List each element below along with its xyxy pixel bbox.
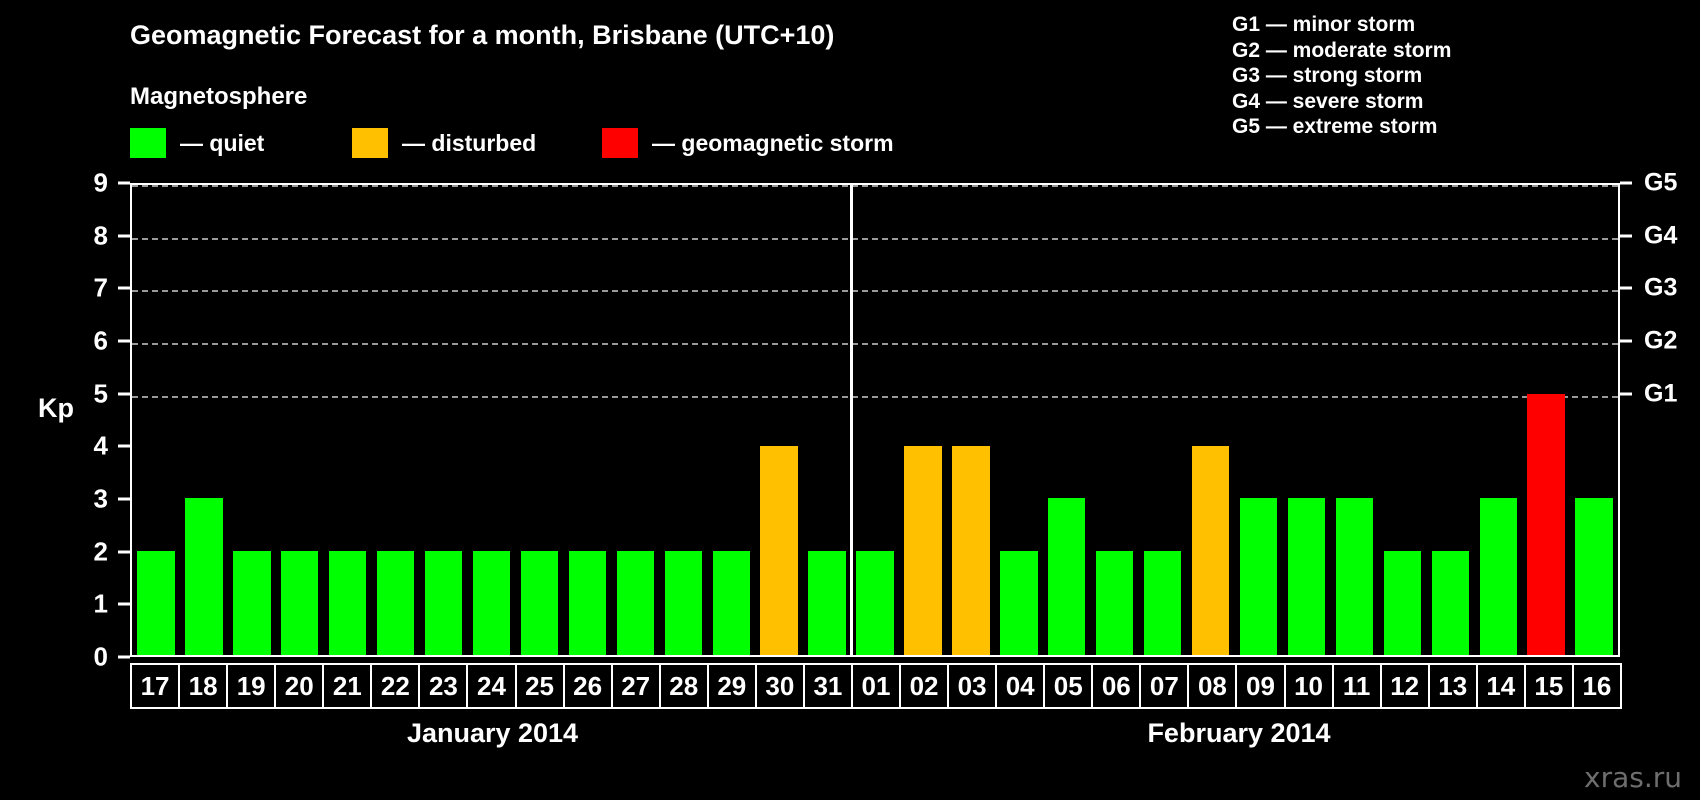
day-label-21: 21 bbox=[322, 663, 372, 709]
g-scale-legend: G1 — minor stormG2 — moderate stormG3 — … bbox=[1232, 12, 1451, 140]
day-label-02: 02 bbox=[899, 663, 949, 709]
g-axis-label-G4: G4 bbox=[1644, 221, 1677, 250]
day-label-27: 27 bbox=[611, 663, 661, 709]
day-label-05: 05 bbox=[1043, 663, 1093, 709]
legend-swatch-disturbed bbox=[352, 128, 388, 158]
day-label-17: 17 bbox=[130, 663, 180, 709]
g-axis-label-G5: G5 bbox=[1644, 169, 1677, 198]
bar-day-23 bbox=[425, 551, 462, 655]
y-tick-label-4: 4 bbox=[94, 431, 108, 462]
legend-swatch-quiet bbox=[130, 128, 166, 158]
g-legend-line-3: G3 — strong storm bbox=[1232, 63, 1451, 89]
day-label-22: 22 bbox=[370, 663, 420, 709]
g-axis-tick-G3 bbox=[1620, 287, 1632, 290]
day-label-01: 01 bbox=[851, 663, 901, 709]
day-label-04: 04 bbox=[995, 663, 1045, 709]
day-label-11: 11 bbox=[1332, 663, 1382, 709]
y-tick-label-3: 3 bbox=[94, 484, 108, 515]
y-tick-mark-0 bbox=[118, 656, 130, 659]
plot-area bbox=[130, 183, 1620, 657]
day-label-18: 18 bbox=[178, 663, 228, 709]
g-axis-tick-G1 bbox=[1620, 392, 1632, 395]
day-label-14: 14 bbox=[1476, 663, 1526, 709]
bar-cell bbox=[899, 185, 947, 655]
y-axis-title: Kp bbox=[38, 393, 74, 424]
g-axis-label-G3: G3 bbox=[1644, 274, 1677, 303]
y-tick-label-0: 0 bbox=[94, 642, 108, 673]
bar-day-28 bbox=[665, 551, 702, 655]
y-tick-mark-5 bbox=[118, 392, 130, 395]
bar-cell bbox=[276, 185, 324, 655]
bar-day-01 bbox=[856, 551, 893, 655]
bar-day-26 bbox=[569, 551, 606, 655]
bar-cell bbox=[1187, 185, 1235, 655]
day-label-08: 08 bbox=[1187, 663, 1237, 709]
bar-series bbox=[132, 185, 1618, 655]
day-axis-labels: 1718192021222324252627282930310102030405… bbox=[130, 663, 1620, 709]
bar-day-29 bbox=[713, 551, 750, 655]
y-tick-label-8: 8 bbox=[94, 220, 108, 251]
bar-cell bbox=[372, 185, 420, 655]
day-label-30: 30 bbox=[755, 663, 805, 709]
y-tick-mark-7 bbox=[118, 287, 130, 290]
bar-day-13 bbox=[1432, 551, 1469, 655]
bar-cell bbox=[180, 185, 228, 655]
g-legend-line-4: G4 — severe storm bbox=[1232, 89, 1451, 115]
bar-day-02 bbox=[904, 446, 941, 655]
bar-day-31 bbox=[808, 551, 845, 655]
bar-cell bbox=[947, 185, 995, 655]
day-label-23: 23 bbox=[418, 663, 468, 709]
g-legend-line-5: G5 — extreme storm bbox=[1232, 114, 1451, 140]
y-tick-mark-9 bbox=[118, 182, 130, 185]
bar-cell bbox=[1043, 185, 1091, 655]
bar-day-27 bbox=[617, 551, 654, 655]
day-label-31: 31 bbox=[803, 663, 853, 709]
day-label-29: 29 bbox=[707, 663, 757, 709]
bar-cell bbox=[132, 185, 180, 655]
bar-day-10 bbox=[1288, 498, 1325, 655]
bar-day-19 bbox=[233, 551, 270, 655]
y-tick-label-7: 7 bbox=[94, 273, 108, 304]
bar-day-09 bbox=[1240, 498, 1277, 655]
legend-label-geomagnetic-storm: — geomagnetic storm bbox=[652, 130, 894, 157]
bar-cell bbox=[1522, 185, 1570, 655]
g-axis-tick-G5 bbox=[1620, 182, 1632, 185]
bar-cell bbox=[707, 185, 755, 655]
legend-label-quiet: — quiet bbox=[180, 130, 264, 157]
y-tick-label-1: 1 bbox=[94, 589, 108, 620]
day-label-26: 26 bbox=[563, 663, 613, 709]
day-label-13: 13 bbox=[1428, 663, 1478, 709]
bar-cell bbox=[1091, 185, 1139, 655]
y-tick-label-2: 2 bbox=[94, 536, 108, 567]
g-axis-label-G1: G1 bbox=[1644, 379, 1677, 408]
month-label-february: February 2014 bbox=[858, 718, 1620, 749]
y-tick-mark-3 bbox=[118, 498, 130, 501]
bar-cell bbox=[1283, 185, 1331, 655]
bar-day-14 bbox=[1480, 498, 1517, 655]
bar-cell bbox=[228, 185, 276, 655]
month-label-january: January 2014 bbox=[130, 718, 855, 749]
day-label-06: 06 bbox=[1091, 663, 1141, 709]
bar-cell bbox=[324, 185, 372, 655]
g-scale-axis: G1G2G3G4G5 bbox=[1620, 183, 1700, 657]
plot-inner bbox=[132, 185, 1618, 655]
y-tick-mark-1 bbox=[118, 603, 130, 606]
bar-day-04 bbox=[1000, 551, 1037, 655]
legend-entry-disturbed: — disturbed bbox=[352, 127, 536, 159]
g-legend-line-1: G1 — minor storm bbox=[1232, 12, 1451, 38]
bar-cell bbox=[1235, 185, 1283, 655]
bar-cell bbox=[1570, 185, 1618, 655]
bar-cell bbox=[659, 185, 707, 655]
day-label-15: 15 bbox=[1524, 663, 1574, 709]
bar-day-20 bbox=[281, 551, 318, 655]
day-label-28: 28 bbox=[659, 663, 709, 709]
bar-cell bbox=[1474, 185, 1522, 655]
y-tick-mark-8 bbox=[118, 234, 130, 237]
month-divider bbox=[850, 185, 853, 655]
bar-day-06 bbox=[1096, 551, 1133, 655]
watermark: xras.ru bbox=[1584, 761, 1682, 794]
bar-day-16 bbox=[1575, 498, 1612, 655]
bar-cell bbox=[611, 185, 659, 655]
day-label-16: 16 bbox=[1572, 663, 1622, 709]
bar-day-21 bbox=[329, 551, 366, 655]
bar-day-08 bbox=[1192, 446, 1229, 655]
bar-day-25 bbox=[521, 551, 558, 655]
day-label-12: 12 bbox=[1380, 663, 1430, 709]
y-tick-label-9: 9 bbox=[94, 168, 108, 199]
bar-cell bbox=[1378, 185, 1426, 655]
day-label-09: 09 bbox=[1235, 663, 1285, 709]
day-label-03: 03 bbox=[947, 663, 997, 709]
bar-day-03 bbox=[952, 446, 989, 655]
y-tick-label-5: 5 bbox=[94, 378, 108, 409]
bar-cell bbox=[851, 185, 899, 655]
bar-day-11 bbox=[1336, 498, 1373, 655]
magnetosphere-label: Magnetosphere bbox=[130, 83, 307, 111]
day-label-20: 20 bbox=[274, 663, 324, 709]
legend-swatch-geomagnetic-storm bbox=[602, 128, 638, 158]
bar-cell bbox=[995, 185, 1043, 655]
bar-day-07 bbox=[1144, 551, 1181, 655]
legend-label-disturbed: — disturbed bbox=[402, 130, 536, 157]
day-label-25: 25 bbox=[515, 663, 565, 709]
bar-day-15 bbox=[1527, 394, 1564, 655]
y-tick-mark-4 bbox=[118, 445, 130, 448]
day-label-10: 10 bbox=[1284, 663, 1334, 709]
bar-cell bbox=[1426, 185, 1474, 655]
bar-cell bbox=[1330, 185, 1378, 655]
legend-entry-quiet: — quiet bbox=[130, 127, 264, 159]
bar-day-24 bbox=[473, 551, 510, 655]
bar-day-05 bbox=[1048, 498, 1085, 655]
y-tick-mark-2 bbox=[118, 550, 130, 553]
g-axis-label-G2: G2 bbox=[1644, 327, 1677, 356]
bar-cell bbox=[516, 185, 564, 655]
bar-cell bbox=[420, 185, 468, 655]
y-tick-mark-6 bbox=[118, 340, 130, 343]
bar-cell bbox=[468, 185, 516, 655]
page-title: Geomagnetic Forecast for a month, Brisba… bbox=[130, 20, 834, 51]
bar-day-30 bbox=[760, 446, 797, 655]
day-label-19: 19 bbox=[226, 663, 276, 709]
legend-entry-geomagnetic-storm: — geomagnetic storm bbox=[602, 127, 894, 159]
bar-cell bbox=[755, 185, 803, 655]
g-legend-line-2: G2 — moderate storm bbox=[1232, 38, 1451, 64]
g-axis-tick-G4 bbox=[1620, 234, 1632, 237]
bar-day-22 bbox=[377, 551, 414, 655]
bar-cell bbox=[563, 185, 611, 655]
day-label-07: 07 bbox=[1139, 663, 1189, 709]
y-tick-label-6: 6 bbox=[94, 326, 108, 357]
bar-day-12 bbox=[1384, 551, 1421, 655]
bar-day-18 bbox=[185, 498, 222, 655]
bar-cell bbox=[803, 185, 851, 655]
g-axis-tick-G2 bbox=[1620, 340, 1632, 343]
bar-day-17 bbox=[137, 551, 174, 655]
bar-cell bbox=[1139, 185, 1187, 655]
day-label-24: 24 bbox=[466, 663, 516, 709]
